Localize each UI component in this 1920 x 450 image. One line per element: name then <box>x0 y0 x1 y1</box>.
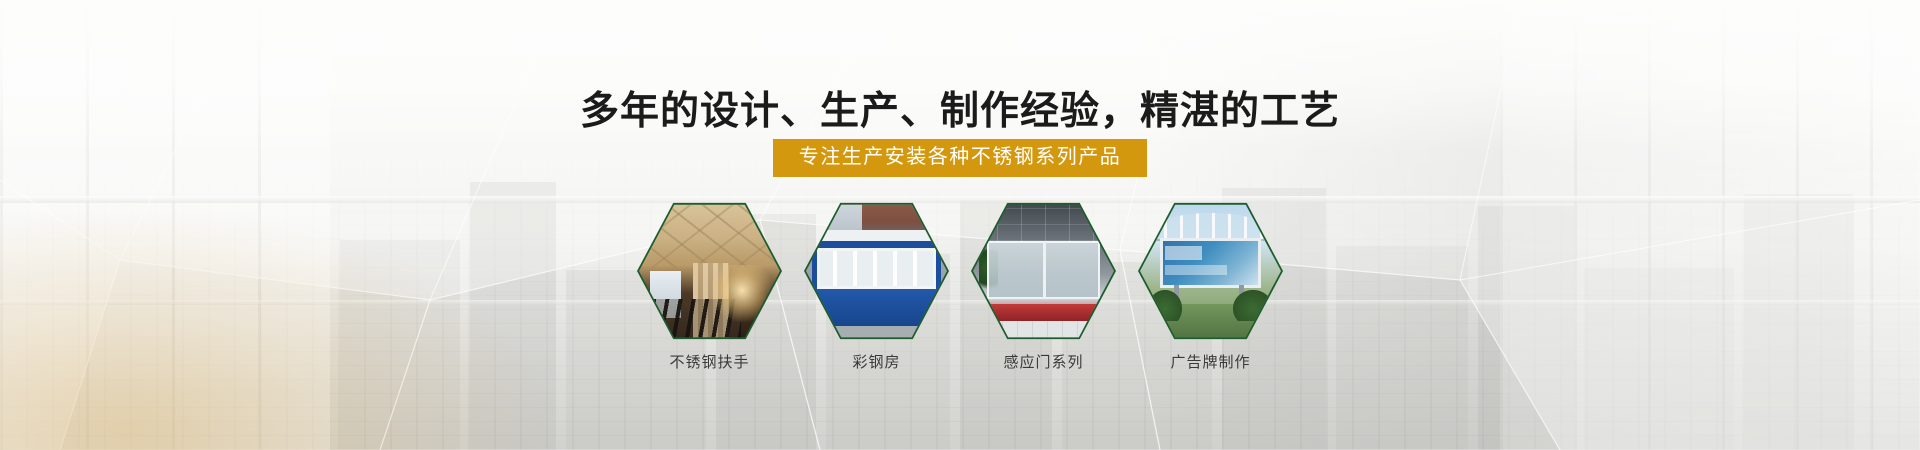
color-steel-room-thumb <box>806 202 947 340</box>
thumb-bush <box>1148 290 1182 320</box>
hexagon-frame[interactable] <box>1138 200 1283 342</box>
hexagon-frame[interactable] <box>804 200 949 342</box>
thumb-billboard-line <box>1165 246 1202 260</box>
thumb-ceiling-grid <box>973 202 1114 241</box>
thumb-red-carpet <box>973 304 1114 321</box>
thumb-ground <box>806 326 947 340</box>
stainless-handrail-thumb <box>639 202 780 340</box>
product-item-handrail[interactable]: 不锈钢扶手 <box>637 200 782 372</box>
banner-subtitle-badge: 专注生产安装各种不锈钢系列产品 <box>773 139 1148 177</box>
hexagon-frame[interactable] <box>971 200 1116 342</box>
billboard-making-thumb <box>1140 202 1281 340</box>
product-hexagon-row: 不锈钢扶手 <box>0 200 1920 372</box>
thumb-billboard-line <box>1165 265 1227 275</box>
hexagon-image-clip <box>1140 202 1281 340</box>
thumb-floor-tiles <box>973 321 1114 340</box>
thumb-door-mullion <box>1043 241 1046 299</box>
product-label: 彩钢房 <box>852 351 900 372</box>
hexagon-image-clip <box>639 202 780 340</box>
thumb-cabin-windows <box>817 248 935 289</box>
thumb-sky <box>806 202 862 232</box>
sensor-door-thumb <box>973 202 1114 340</box>
product-label: 广告牌制作 <box>1170 351 1250 372</box>
product-label: 感应门系列 <box>1003 351 1083 372</box>
thumb-railing <box>639 299 741 340</box>
product-item-color-steel-room[interactable]: 彩钢房 <box>804 200 949 372</box>
badge-container: 专注生产安装各种不锈钢系列产品 <box>0 139 1920 177</box>
thumb-canopy <box>1148 213 1272 241</box>
hexagon-frame[interactable] <box>637 200 782 342</box>
hexagon-image-clip <box>973 202 1114 340</box>
product-item-sensor-door[interactable]: 感应门系列 <box>971 200 1116 372</box>
thumb-bush <box>1233 290 1272 320</box>
thumb-cabin-roof <box>809 230 944 241</box>
hexagon-image-clip <box>806 202 947 340</box>
product-label: 不锈钢扶手 <box>669 351 749 372</box>
product-item-billboard[interactable]: 广告牌制作 <box>1138 200 1283 372</box>
promo-banner: 多年的设计、生产、制作经验，精湛的工艺 专注生产安装各种不锈钢系列产品 不锈钢扶… <box>0 0 1920 450</box>
banner-headline: 多年的设计、生产、制作经验，精湛的工艺 <box>0 80 1920 136</box>
banner-content: 多年的设计、生产、制作经验，精湛的工艺 专注生产安装各种不锈钢系列产品 不锈钢扶… <box>0 0 1920 450</box>
thumb-cabin-skirt <box>812 289 942 326</box>
